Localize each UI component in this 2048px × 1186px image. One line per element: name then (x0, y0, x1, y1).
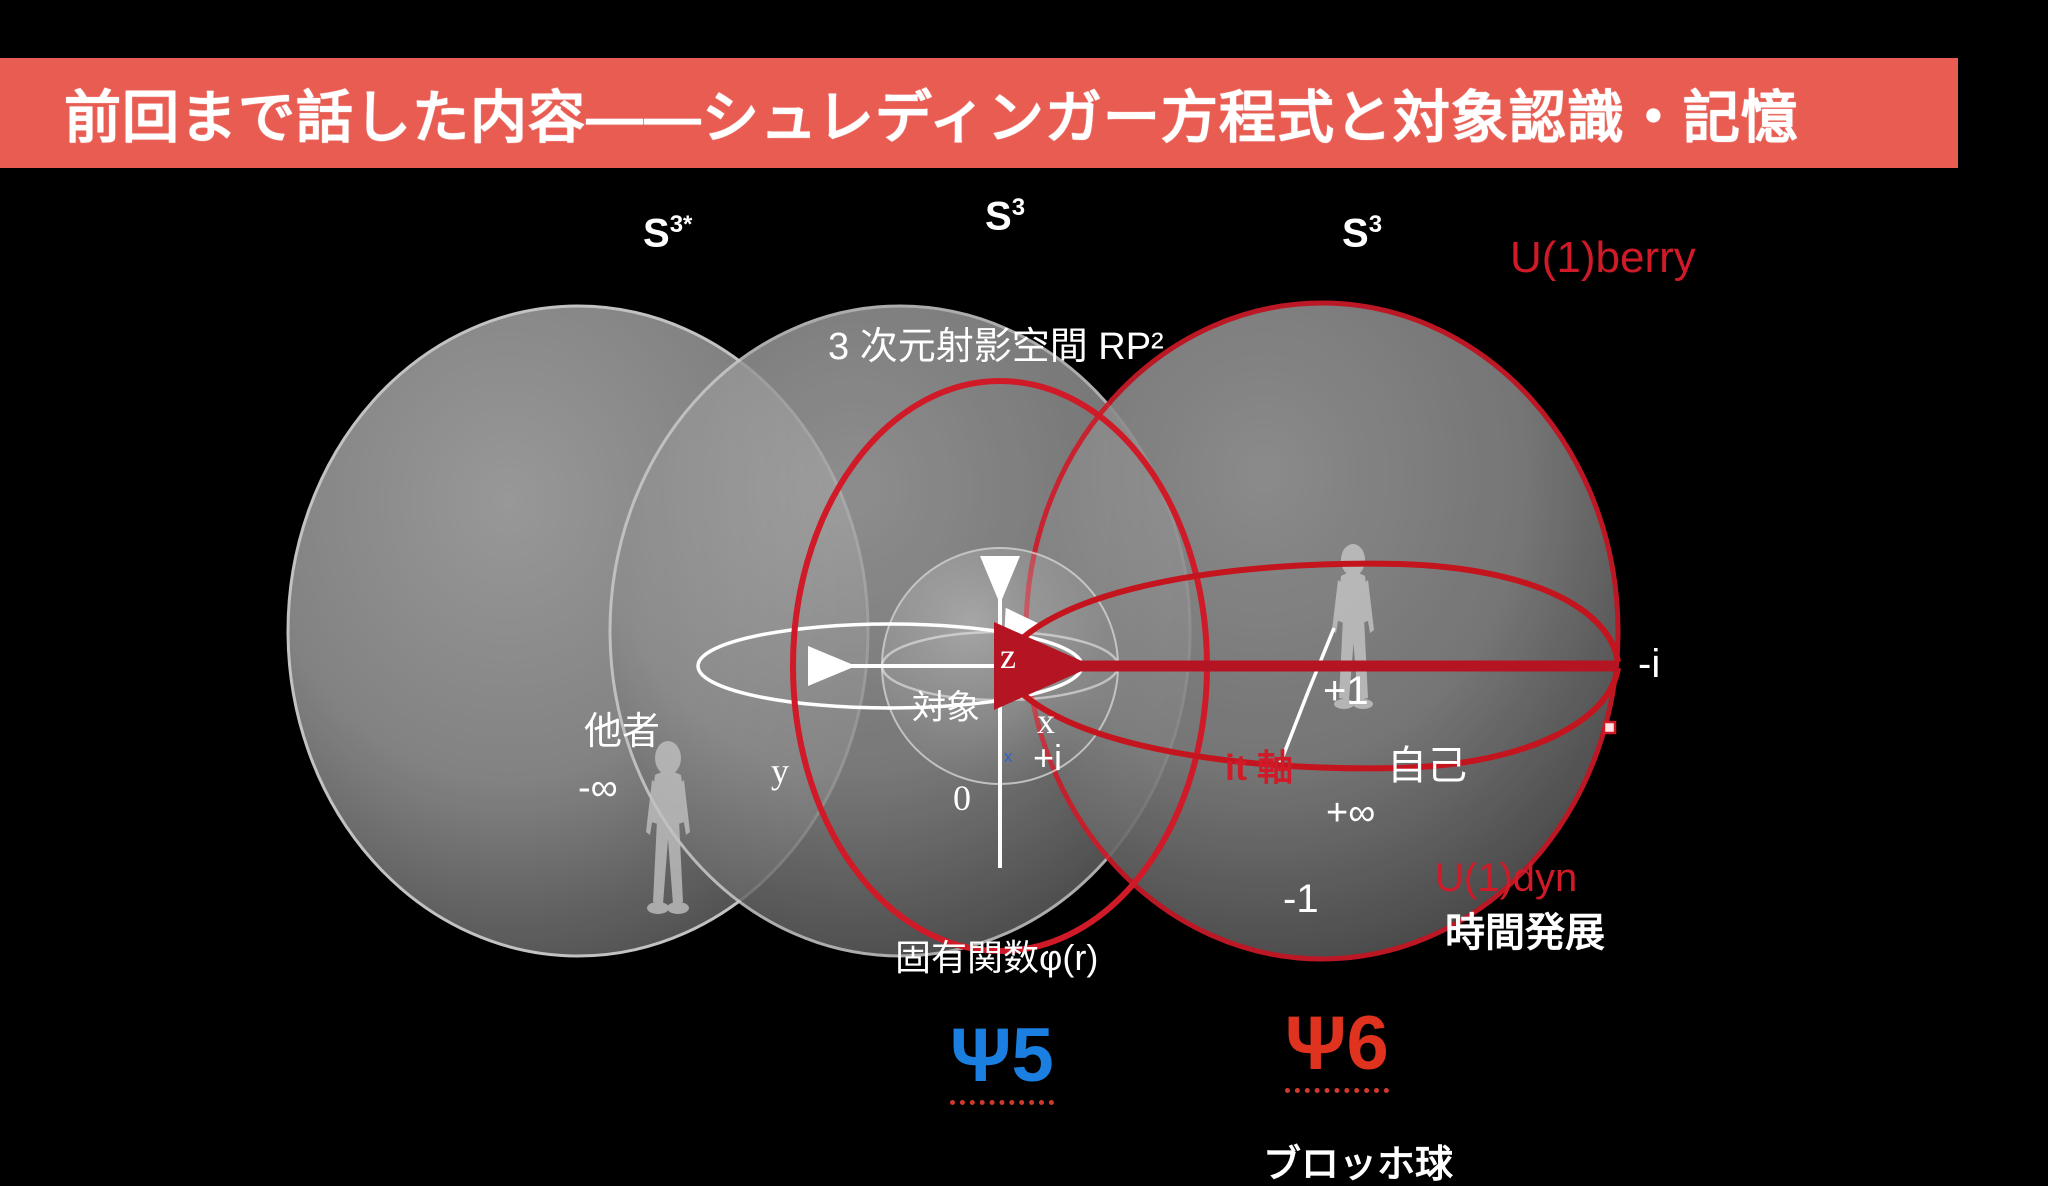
sphere-label-s3-right: S3 (1342, 213, 1382, 253)
label-self: 自己 (1387, 746, 1467, 786)
sphere-label-base: S (1342, 211, 1369, 255)
label-axis-y: y (771, 753, 789, 789)
label-it-axis: it 軸 (1225, 750, 1293, 786)
sphere-label-s3-middle: S3 (985, 196, 1025, 236)
label-minus-one: -1 (1283, 879, 1319, 919)
label-axis-x: x (1037, 703, 1055, 739)
label-origin: 0 (953, 780, 971, 816)
label-psi6: Ψ6 (1285, 1006, 1389, 1093)
label-plus-one: +1 (1323, 671, 1369, 711)
red-square-marker (1604, 722, 1615, 733)
label-plus-infinity: +∞ (1326, 794, 1375, 832)
sphere-label-s3-star: S3* (643, 213, 692, 253)
page-title: 前回まで話した内容——シュレディンガー方程式と対象認識・記憶 (64, 72, 1799, 154)
label-projective-space: 3 次元射影空間 RP² (828, 328, 1164, 366)
blue-x-marker: x (1004, 747, 1013, 766)
label-object: 対象 (912, 691, 980, 725)
sphere-label-base: S (985, 194, 1012, 238)
label-u1-berry: U(1)berry (1510, 236, 1696, 280)
sphere-label-base: S (643, 211, 670, 255)
label-time-evolution: 時間発展 (1445, 913, 1605, 953)
label-plus-i: +i (1033, 740, 1062, 776)
sphere-label-sup: 3* (670, 211, 693, 238)
label-minus-i: -i (1638, 644, 1660, 684)
label-u1-dyn: U(1)dyn (1435, 858, 1577, 898)
label-other: 他者 (584, 713, 660, 751)
label-minus-infinity: -∞ (578, 769, 618, 807)
diagram-caption: ブロッホ球 (1263, 1146, 1453, 1184)
sphere-label-sup: 3 (1012, 194, 1025, 221)
title-banner: 前回まで話した内容——シュレディンガー方程式と対象認識・記憶 (0, 58, 1958, 168)
diagram-svg: x (0, 168, 2048, 1148)
label-axis-z: z (1000, 638, 1016, 674)
sphere-label-sup: 3 (1369, 211, 1382, 238)
bloch-sphere-diagram: x S3* S3 S3 U(1)berry 3 次元射影空間 RP² 他者 -∞… (0, 168, 2048, 1148)
label-psi5: Ψ5 (950, 1018, 1054, 1105)
slide-canvas: 前回まで話した内容——シュレディンガー方程式と対象認識・記憶 (0, 0, 2048, 1148)
label-eigenfunction: 固有関数φ(r) (895, 940, 1098, 976)
